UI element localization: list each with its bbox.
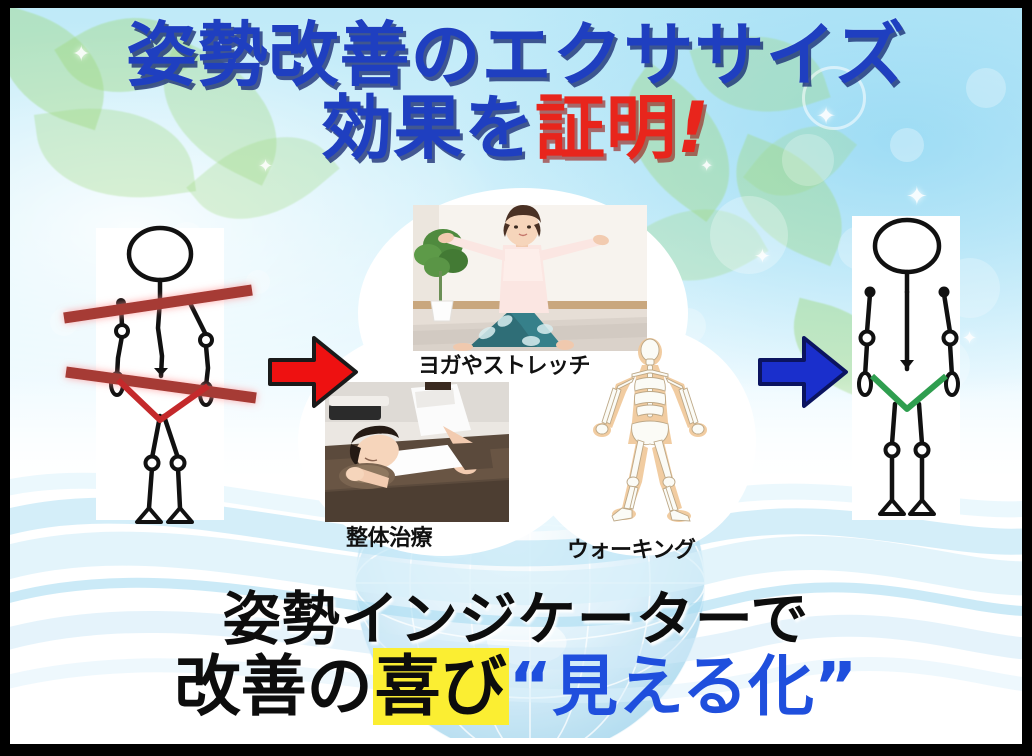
bottom-line2: 改善の喜び“見える化” [10, 654, 1022, 720]
headline-line1: 姿勢改善のエクササイズ [10, 20, 1022, 91]
bokeh-circle [710, 196, 788, 274]
walking-skeleton-illustration [580, 336, 720, 526]
bottom-line2-prefix: 改善の [175, 648, 373, 725]
arrow-right-red-icon [268, 334, 360, 410]
yoga-photo [413, 205, 647, 351]
headline-line2: 効果を証明! [10, 93, 1022, 164]
headline-block: 姿勢改善のエクササイズ 効果を証明! [10, 20, 1022, 165]
bottom-line2-quoted: “見える化” [509, 648, 858, 725]
poster-root: ✦ ✦ ✦ ✦ ✦ ✦ ✦ ✦ [0, 0, 1032, 756]
sparkle-icon: ✦ [754, 246, 771, 266]
headline-proof-word: 証明 [535, 87, 677, 169]
headline-line2-prefix: 効果を [322, 87, 535, 169]
arrow-right-blue-icon [758, 334, 850, 410]
bottom-headline-block: 姿勢インジケーターで 改善の喜び“見える化” [10, 590, 1022, 720]
seitai-caption: 整体治療 [346, 520, 432, 552]
headline-exclamation: ! [677, 87, 710, 169]
before-posture-figure [60, 208, 270, 538]
bottom-line2-highlight: 喜び [373, 648, 509, 725]
poster-canvas: ✦ ✦ ✦ ✦ ✦ ✦ ✦ ✦ [10, 8, 1022, 744]
bottom-line1: 姿勢インジケーターで [10, 590, 1022, 648]
yoga-caption: ヨガやストレッチ [418, 348, 590, 380]
walking-caption: ウォーキング [567, 532, 695, 564]
